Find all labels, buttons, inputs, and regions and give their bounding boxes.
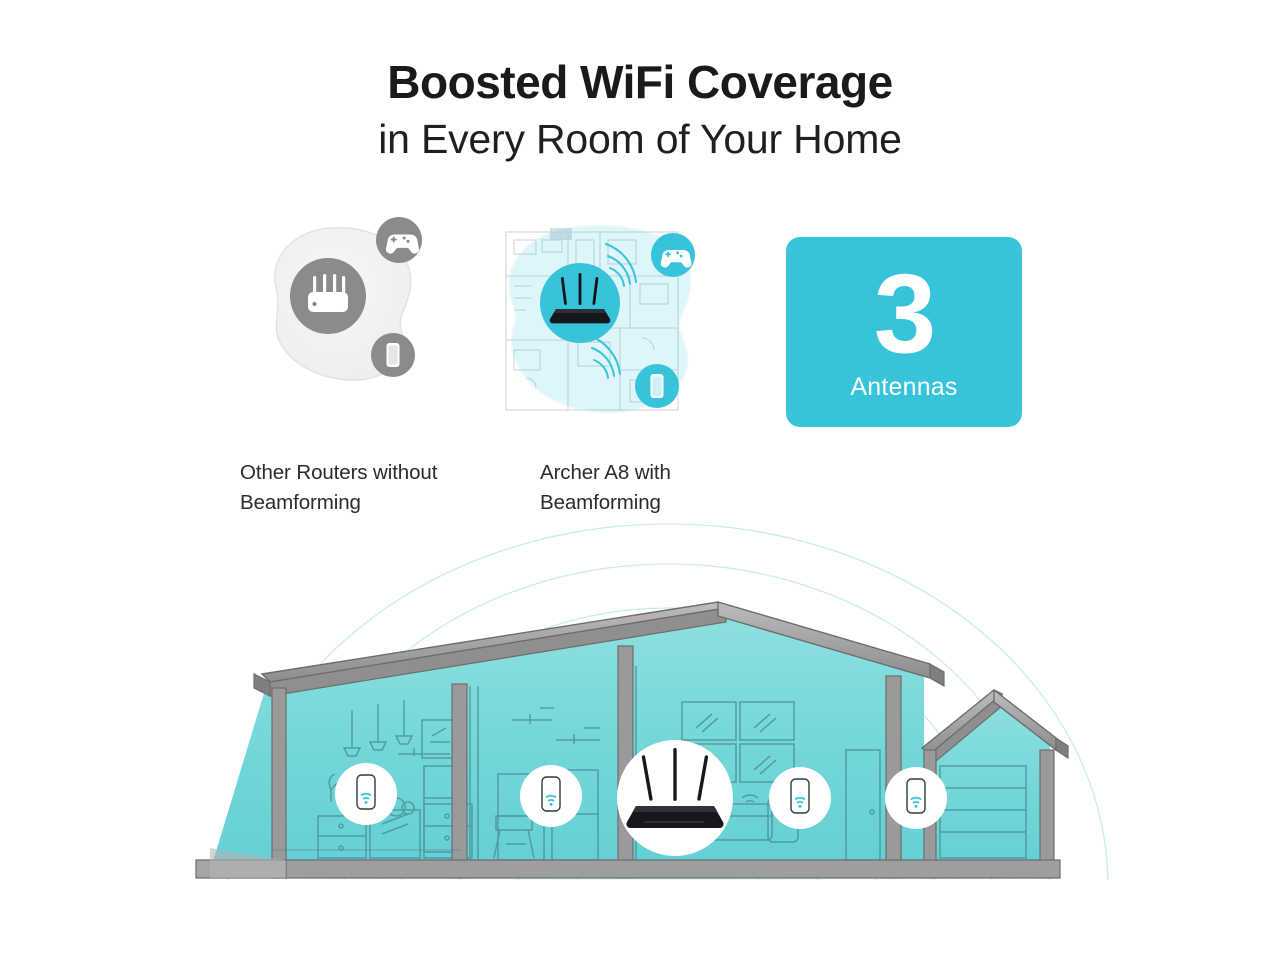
list-item — [520, 765, 582, 827]
house-coverage-illustration — [0, 498, 1280, 918]
beamforming-comparison: Other Routers without Beamforming Archer… — [0, 210, 1280, 520]
gamepad-icon — [376, 217, 422, 263]
antennas-badge: 3 Antennas — [786, 237, 1022, 427]
list-item — [769, 767, 831, 829]
weak-coverage-illustration — [238, 210, 478, 420]
router-3-antenna-icon — [540, 263, 620, 343]
router-icon — [290, 258, 366, 334]
smartphone-icon — [371, 333, 415, 377]
heading-block: Boosted WiFi Coverage in Every Room of Y… — [0, 56, 1280, 166]
wifi-coverage-infographic: Boosted WiFi Coverage in Every Room of Y… — [0, 0, 1280, 960]
antennas-count: 3 — [874, 262, 934, 365]
antennas-label: Antennas — [850, 373, 957, 402]
list-item — [335, 763, 397, 825]
smartphone-icon — [635, 364, 679, 408]
page-subtitle: in Every Room of Your Home — [0, 113, 1280, 166]
router-3-antenna-icon — [617, 740, 733, 856]
strong-coverage-illustration — [490, 210, 720, 420]
gamepad-icon — [651, 233, 695, 277]
page-title: Boosted WiFi Coverage — [0, 56, 1280, 109]
comparison-panel-archer-a8 — [490, 210, 720, 420]
list-item — [885, 767, 947, 829]
comparison-panel-other-routers — [238, 210, 478, 420]
